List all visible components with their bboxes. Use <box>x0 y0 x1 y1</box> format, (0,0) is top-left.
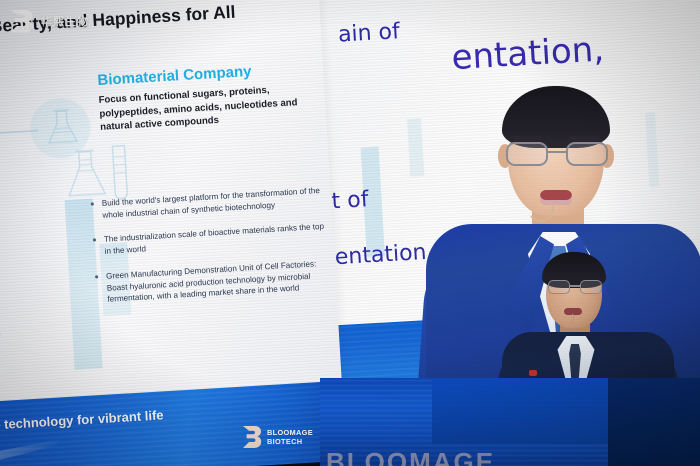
live-flag-pin-icon <box>529 370 537 376</box>
feed-glasses-bridge <box>548 151 566 153</box>
test-tube-icon <box>107 142 133 203</box>
flask-icon <box>59 145 114 204</box>
live-eyeglasses-icon <box>548 280 602 294</box>
stage-backdrop-dark-panel <box>608 378 700 466</box>
slide-section-heading: Biomaterial Company <box>97 63 252 89</box>
background-brand-wordmark: BLOOMAGE <box>326 447 495 466</box>
list-item: Green Manufacturing Demonstration Unit o… <box>93 258 331 307</box>
feed-lens-left <box>506 142 548 166</box>
bullet-dot-icon <box>93 239 96 242</box>
watermark-chinese-name: 华熙生物 <box>41 13 89 29</box>
bullet-dot-icon <box>91 202 94 205</box>
slide-bullet-list: Build the world's largest platform for t… <box>88 185 331 320</box>
list-item: The industrialization scale of bioactive… <box>91 221 328 258</box>
live-lens-right <box>580 280 602 294</box>
bloomage-biotech-logo: BLOOMAGE BIOTECH <box>240 424 313 450</box>
wall-headline-line3: t of <box>331 187 369 214</box>
live-glasses-bridge <box>570 285 580 287</box>
logo-wordmark: BLOOMAGE BIOTECH <box>267 429 313 445</box>
stage-backdrop-mid-panel <box>432 378 612 444</box>
feed-eyebrow-left <box>510 136 542 141</box>
footer-swoosh-decor <box>0 440 60 466</box>
logo-line-1: BLOOMAGE <box>267 429 313 436</box>
feed-lens-right <box>566 142 608 166</box>
flask-icon <box>39 105 86 152</box>
watermark-logo: 华熙生物 <box>6 8 89 34</box>
footer-tagline: e technology for vibrant life <box>0 407 164 432</box>
feed-eyeglasses-icon <box>506 142 608 166</box>
screenshot-root: ain of entation, t of entation, <box>0 0 700 466</box>
bloomage-b-mark-icon <box>6 8 36 34</box>
bullet-dot-icon <box>95 275 98 278</box>
bloomage-b-mark-icon <box>240 424 262 450</box>
logo-line-2: BIOTECH <box>267 438 313 445</box>
feed-eyebrow-right <box>568 136 600 141</box>
slide-lead-text: Focus on functional sugars, proteins, po… <box>98 81 316 135</box>
wall-headline-line1: ain of <box>337 19 400 48</box>
presentation-slide: AESTHETIC INJECTION CONFERENCE , Beauty,… <box>0 0 342 415</box>
list-item-label: Green Manufacturing Demonstration Unit o… <box>106 259 317 304</box>
molecule-dots-icon <box>0 131 23 374</box>
list-item-label: The industrialization scale of bioactive… <box>104 222 325 256</box>
list-item-label: Build the world's largest platform for t… <box>102 186 321 220</box>
live-lens-left <box>548 280 570 294</box>
